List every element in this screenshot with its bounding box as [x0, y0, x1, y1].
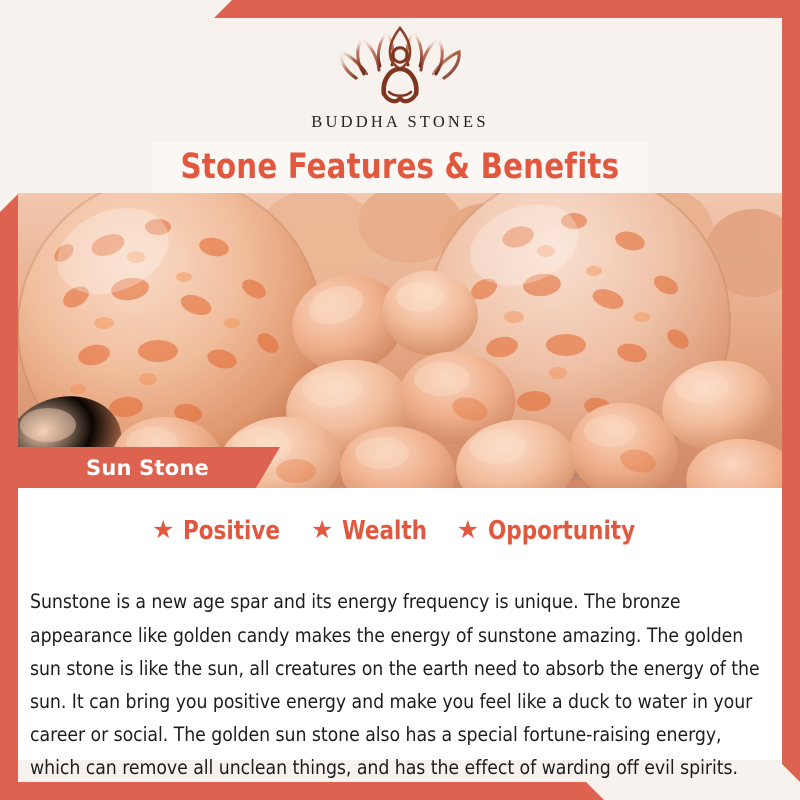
star-icon: ★ [311, 518, 333, 543]
brand-logo: BUDDHA STONES [0, 22, 800, 132]
keyword-label: Opportunity [488, 518, 635, 544]
keyword-row: ★ Positive ★ Wealth ★ Opportunity [18, 511, 782, 551]
star-icon: ★ [457, 518, 479, 543]
star-icon: ★ [152, 518, 174, 543]
keyword-item-positive: ★ Positive [152, 518, 289, 544]
lotus-meditation-figure-icon [334, 22, 466, 108]
keyword-item-opportunity: ★ Opportunity [457, 518, 648, 544]
stone-description: Sunstone is a new age spar and its energ… [30, 585, 772, 784]
stone-photo [18, 193, 782, 488]
brand-name: BUDDHA STONES [0, 112, 800, 132]
page-title: Stone Features & Benefits [181, 150, 620, 185]
stone-name-label: Sun Stone [86, 456, 209, 480]
poster-root: BUDDHA STONES Stone Features & Benefits [0, 0, 800, 800]
frame-right-accent [782, 0, 800, 800]
stone-name-ribbon: Sun Stone [18, 447, 280, 488]
keyword-label: Wealth [342, 518, 427, 544]
frame-bottom-accent [0, 782, 800, 800]
title-band: Stone Features & Benefits [152, 141, 648, 193]
keyword-label: Positive [183, 518, 280, 544]
keyword-item-wealth: ★ Wealth [311, 518, 435, 544]
